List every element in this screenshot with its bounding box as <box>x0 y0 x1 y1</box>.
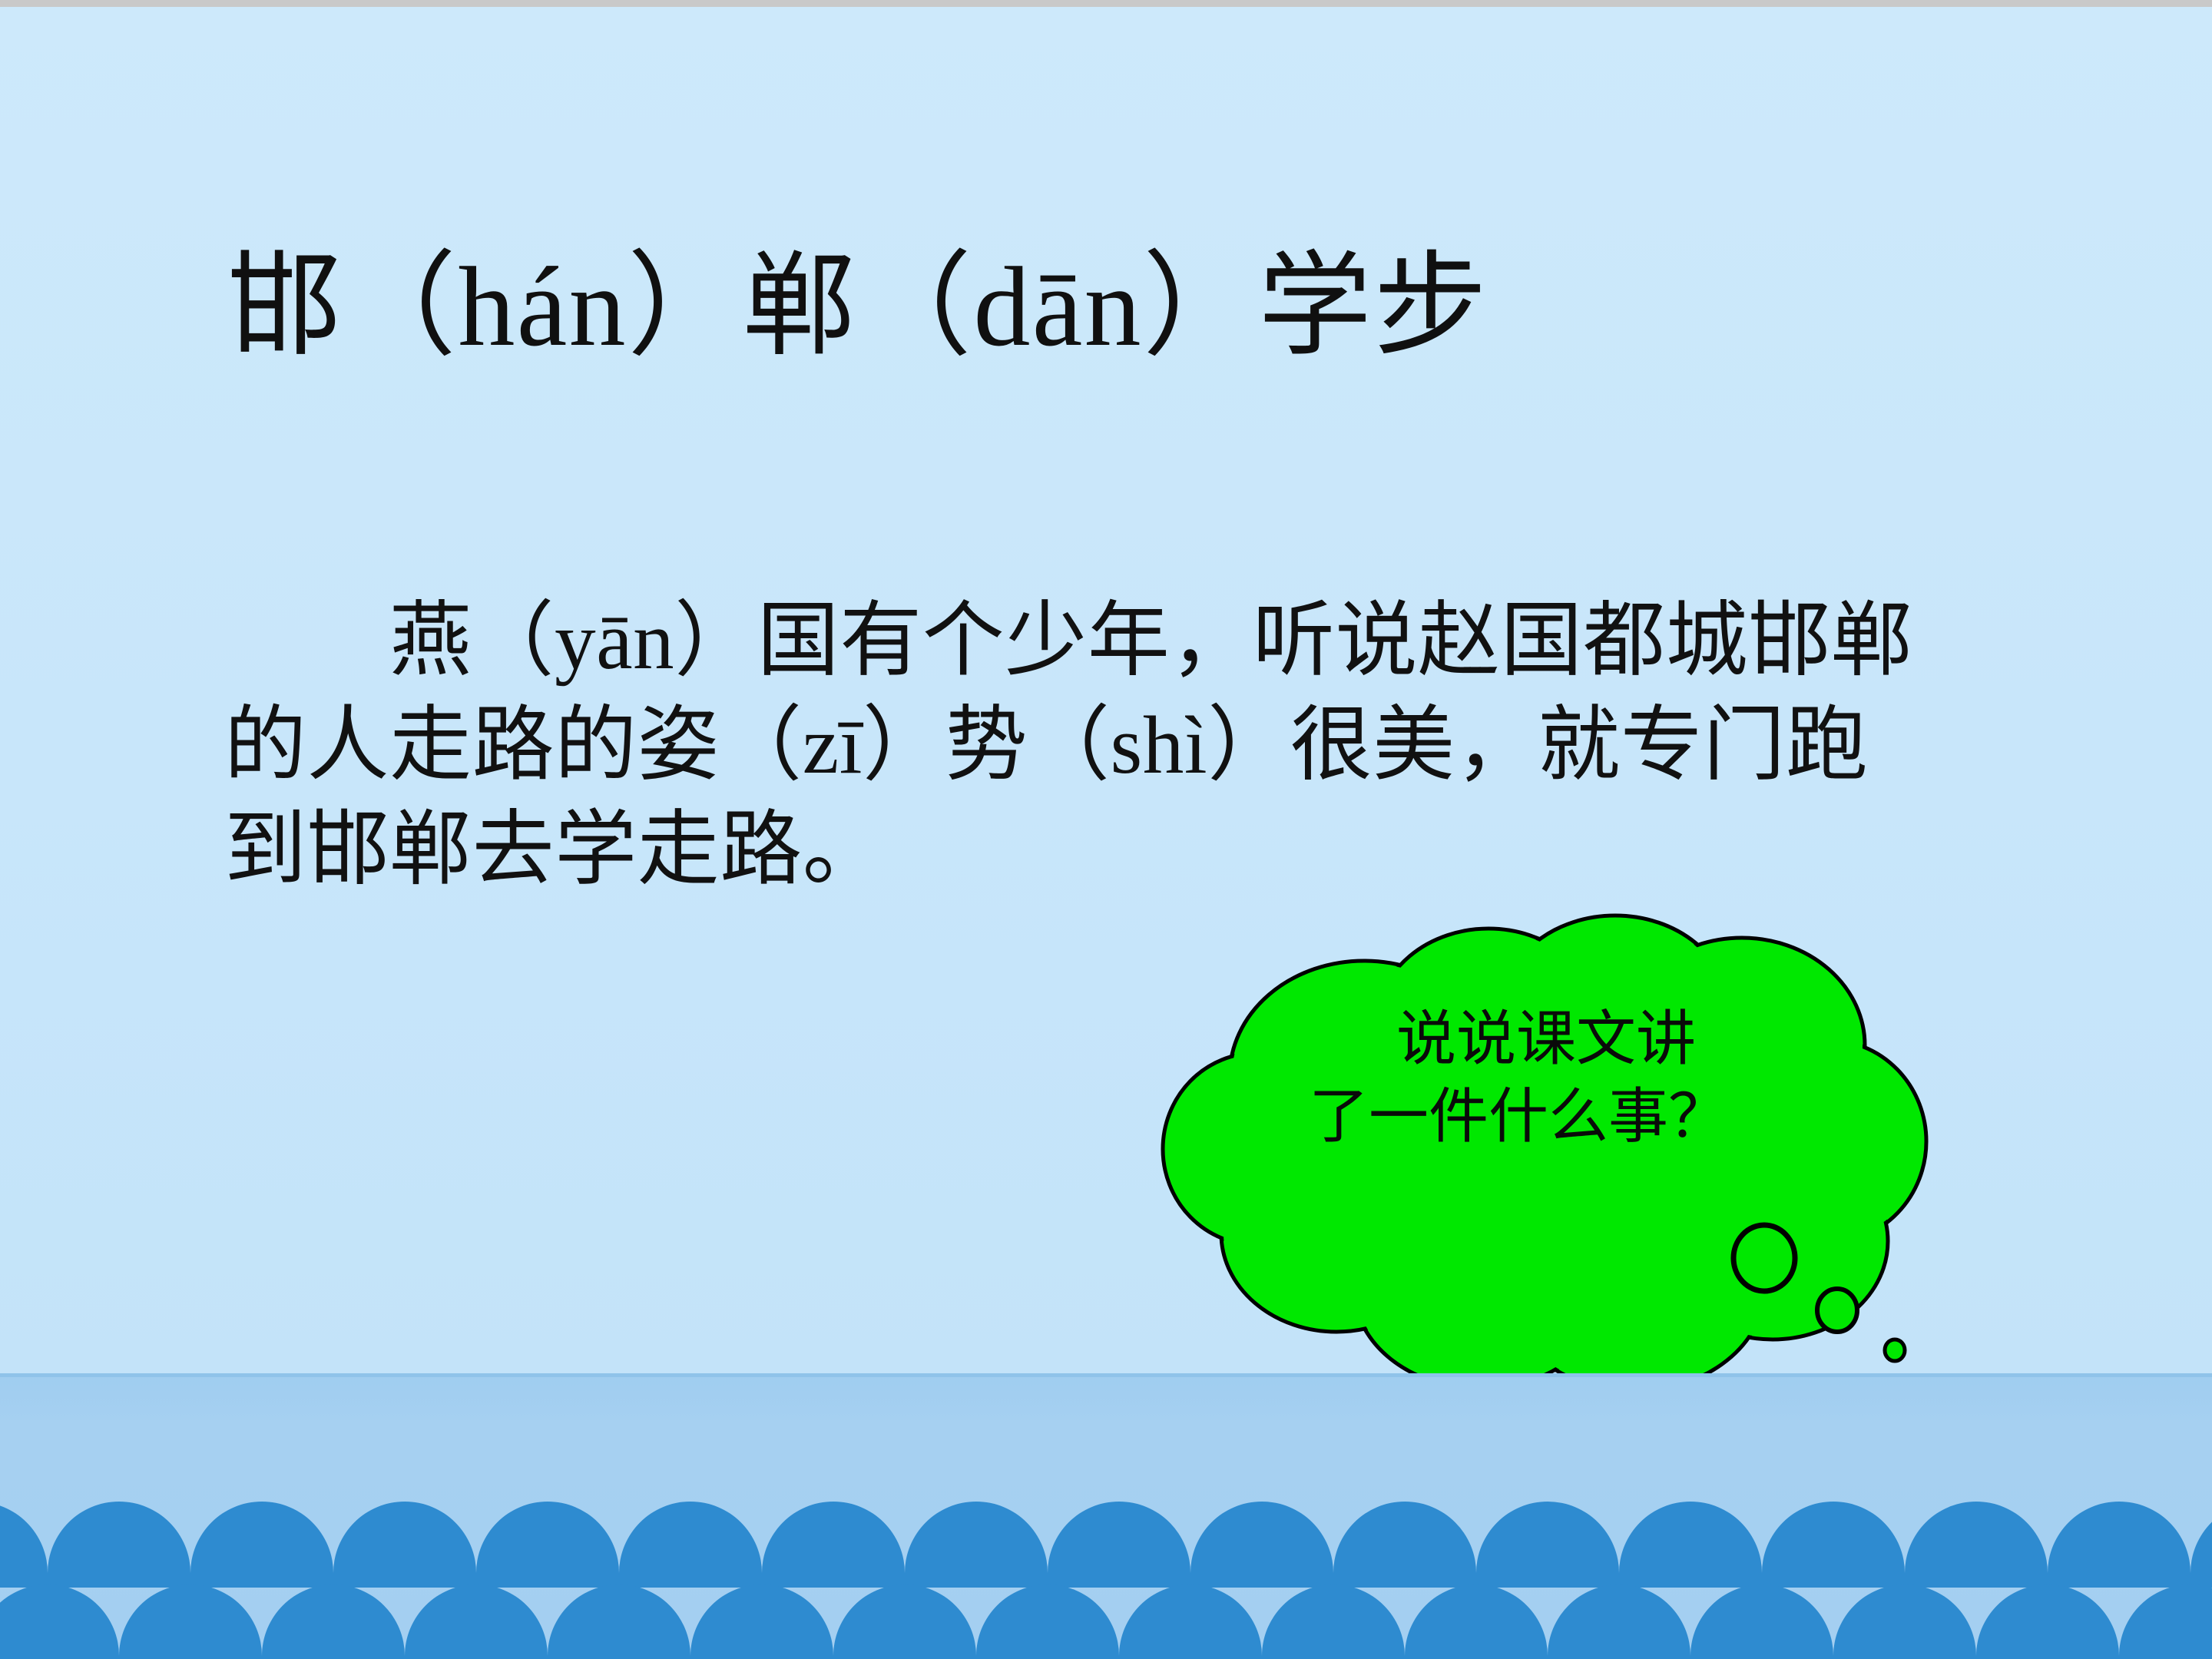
scallop-dome <box>762 1502 905 1588</box>
scallop-dome <box>1190 1502 1333 1588</box>
body-line-2: 的人走路的姿（zī）势（shì）很美，就专门跑 <box>224 694 1983 799</box>
scallop-dome <box>48 1502 190 1588</box>
top-gray-strip <box>0 0 2212 7</box>
scallop-dome <box>2048 1502 2190 1588</box>
scallop-dome <box>690 1584 833 1659</box>
scallop-dome <box>1476 1502 1619 1588</box>
tail-bubble-large <box>1734 1225 1795 1291</box>
scallop-dome <box>548 1584 690 1659</box>
scallop-dome <box>1405 1584 1548 1659</box>
scallop-dome <box>0 1502 48 1588</box>
body-line-1: 燕（yān）国有个少年，听说赵国都城邯郸 <box>224 590 1983 694</box>
scallop-dome <box>1262 1584 1405 1659</box>
bottom-decorative-band <box>0 1373 2212 1659</box>
scallop-dome <box>405 1584 548 1659</box>
scallop-dome <box>833 1584 976 1659</box>
body-line-3: 到邯郸去学走路。 <box>224 799 1983 903</box>
scallop-dome <box>2190 1502 2212 1588</box>
scallop-dome <box>1333 1502 1476 1588</box>
tail-bubble-small <box>1885 1339 1905 1361</box>
slide-title: 邯（hán）郸（dān）学步 <box>227 244 1488 372</box>
scallop-dome <box>476 1502 619 1588</box>
slide-canvas: 邯（hán）郸（dān）学步 燕（yān）国有个少年，听说赵国都城邯郸 的人走路… <box>0 0 2212 1659</box>
band-top-hairline <box>0 1373 2212 1377</box>
scallop-row-lower <box>0 1584 2212 1659</box>
scallop-dome <box>333 1502 476 1588</box>
scallop-dome <box>1119 1584 1262 1659</box>
scallop-dome <box>1905 1502 2048 1588</box>
scallop-dome <box>976 1584 1119 1659</box>
scallop-dome <box>262 1584 405 1659</box>
scallop-dome <box>1762 1502 1905 1588</box>
scallop-row-upper <box>0 1502 2212 1588</box>
scallop-dome <box>190 1502 333 1588</box>
scallop-dome <box>1976 1584 2119 1659</box>
slide-body-paragraph: 燕（yān）国有个少年，听说赵国都城邯郸 的人走路的姿（zī）势（shì）很美，… <box>224 590 1983 903</box>
scallop-dome <box>0 1584 119 1659</box>
scallop-dome <box>1048 1502 1190 1588</box>
scallop-dome <box>1548 1584 1690 1659</box>
tail-bubble-medium <box>1817 1289 1857 1332</box>
scallop-dome <box>905 1502 1048 1588</box>
scallop-dome <box>2119 1584 2212 1659</box>
scallop-dome <box>619 1502 762 1588</box>
scallop-dome <box>1833 1584 1976 1659</box>
scallop-dome <box>1619 1502 1762 1588</box>
scallop-dome <box>119 1584 262 1659</box>
scallop-dome <box>1690 1584 1833 1659</box>
